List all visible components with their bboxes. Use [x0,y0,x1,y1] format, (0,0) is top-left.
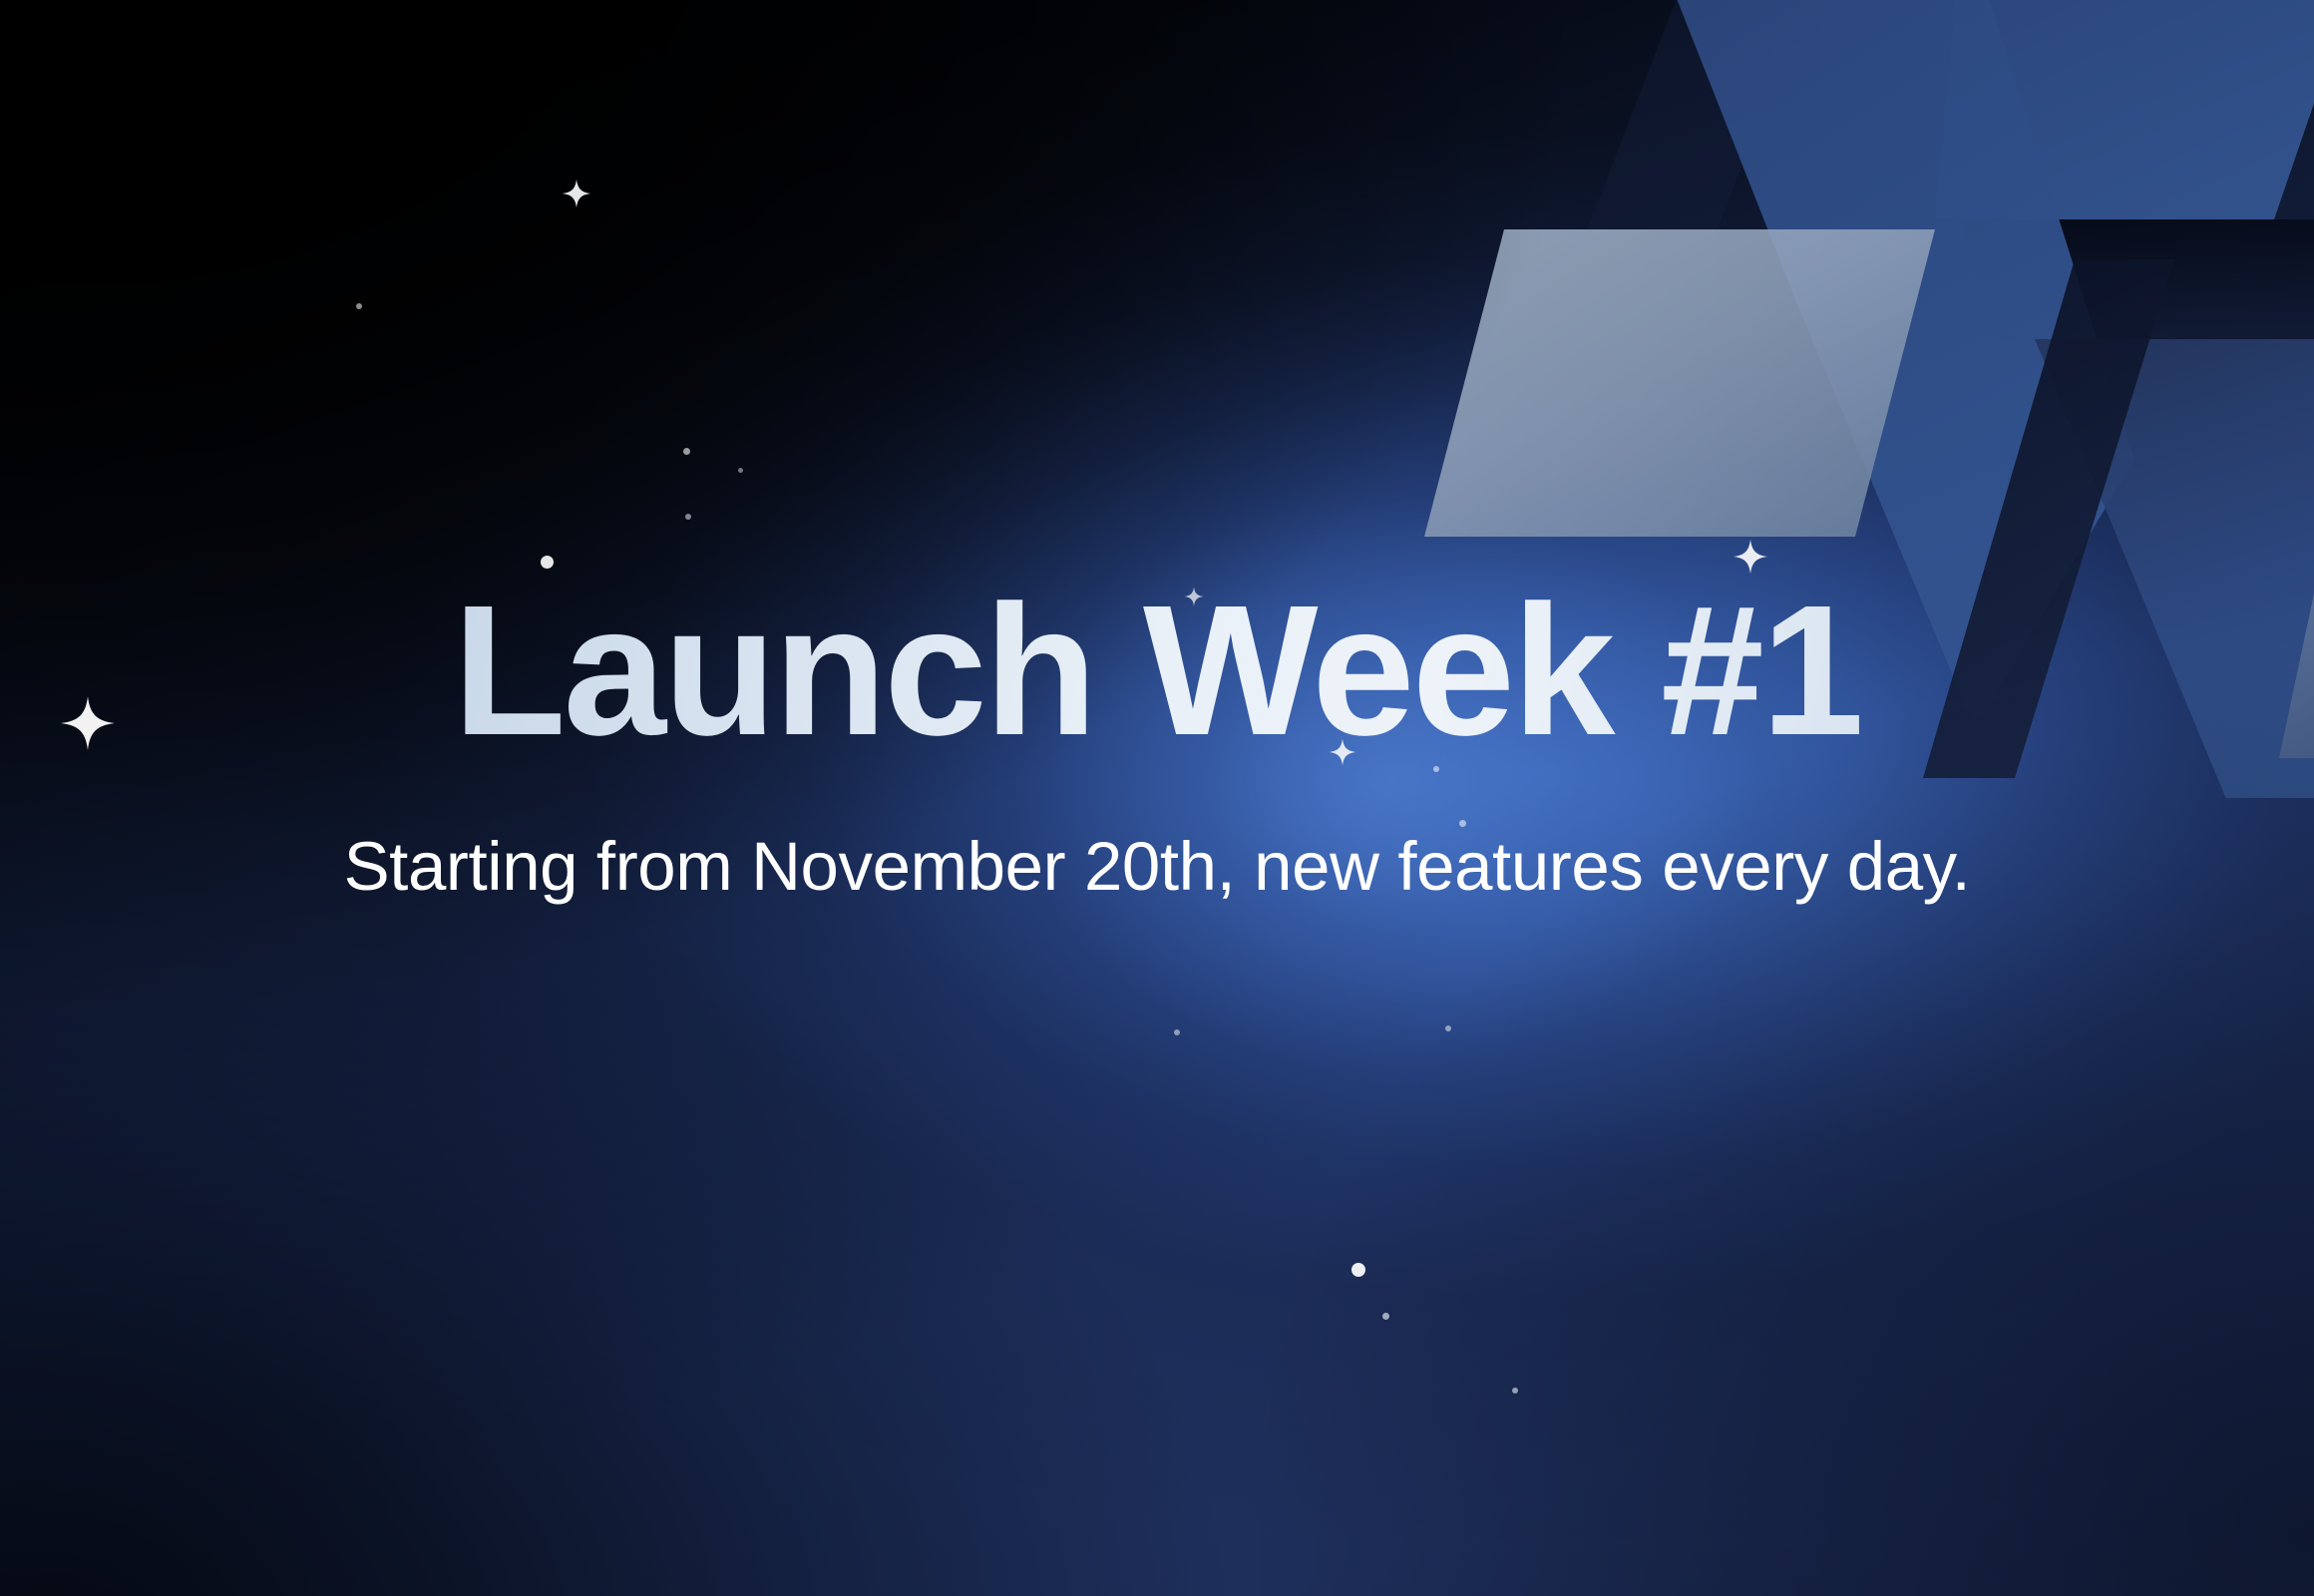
page-subtitle: Starting from November 20th, new feature… [0,832,2314,901]
page-title: Launch Week #1 [0,579,2314,764]
hero-text-block: Launch Week #1 Starting from November 20… [0,0,2314,1596]
hero-banner: Launch Week #1 Starting from November 20… [0,0,2314,1596]
